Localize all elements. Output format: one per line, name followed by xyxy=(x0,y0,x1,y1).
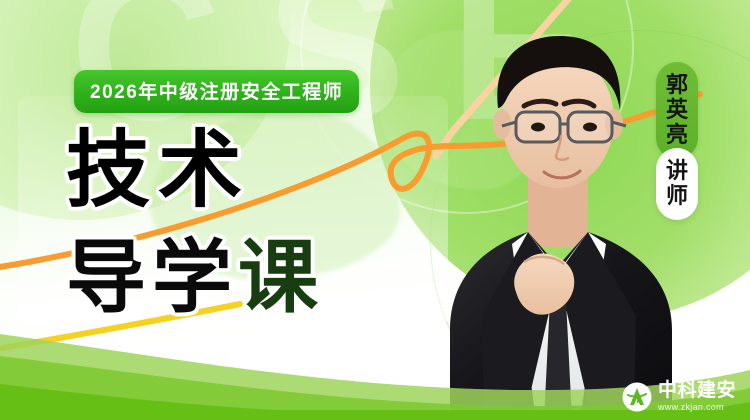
portrait-eye-right xyxy=(583,123,597,132)
mountain-arrow-circle-icon xyxy=(622,382,652,412)
instructor-role-char-2: 师 xyxy=(656,183,698,208)
portrait-eye-left xyxy=(531,123,545,132)
brand-name: 中科建安 xyxy=(658,381,736,400)
instructor-name-char-2: 英 xyxy=(656,97,698,122)
brand-text: 中科建安 www.zkjan.com xyxy=(658,381,736,412)
instructor-role-char-1: 讲 xyxy=(656,158,698,183)
course-poster: CSE 2026年中级注册安全工程师 技术 导学课 xyxy=(0,0,750,420)
instructor-name-char-1: 郭 xyxy=(656,72,698,97)
brand-logo: 中科建安 www.zkjan.com xyxy=(622,381,736,412)
brand-url: www.zkjan.com xyxy=(658,403,736,412)
instructor-role-badge: 讲 师 xyxy=(656,148,698,220)
instructor-name-char-3: 亮 xyxy=(656,122,698,147)
instructor-name-badge: 郭 英 亮 xyxy=(656,62,698,159)
course-badge: 2026年中级注册安全工程师 xyxy=(74,70,359,113)
page-title: 技术 xyxy=(66,128,250,212)
